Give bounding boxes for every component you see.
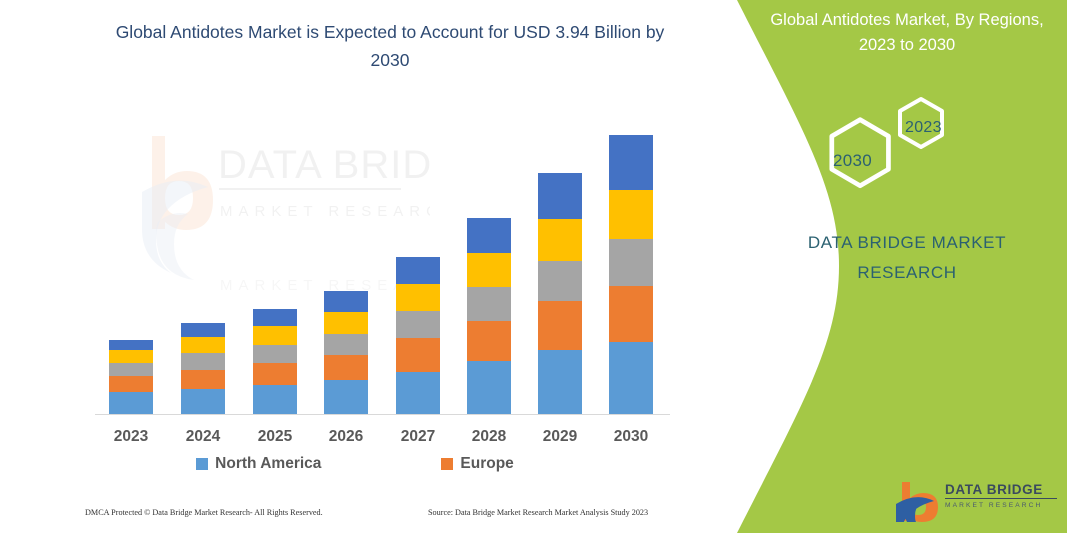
plot-area: 20232024202520262027202820292030 — [0, 0, 710, 533]
bar-segment-south-america — [253, 326, 297, 345]
bar-segment-north-america — [181, 389, 225, 414]
bar-segment-middle-east-and-africa — [253, 309, 297, 326]
legend-swatch-icon — [441, 458, 453, 470]
x-axis-label-2024: 2024 — [163, 428, 243, 446]
bar-2025 — [253, 309, 297, 414]
bar-2030 — [609, 135, 653, 414]
logo-sub-text: MARKET RESEARCH — [945, 501, 1057, 510]
bar-segment-north-america — [253, 385, 297, 414]
bar-segment-middle-east-and-africa — [467, 218, 511, 253]
x-axis-label-2023: 2023 — [91, 428, 171, 446]
bar-2024 — [181, 323, 225, 414]
x-axis-label-2026: 2026 — [306, 428, 386, 446]
bar-segment-asia-pacific — [467, 287, 511, 321]
infographic-root: Global Antidotes Market is Expected to A… — [0, 0, 1067, 533]
chart-panel: Global Antidotes Market is Expected to A… — [0, 0, 710, 533]
bar-segment-north-america — [109, 392, 153, 414]
chart-legend: North AmericaEurope — [0, 455, 710, 473]
x-axis-label-2027: 2027 — [378, 428, 458, 446]
bar-2023 — [109, 340, 153, 414]
bar-segment-south-america — [181, 337, 225, 354]
bar-segment-north-america — [396, 372, 440, 414]
hexagon-2023-label: 2023 — [905, 119, 942, 137]
footer-source: Source: Data Bridge Market Research Mark… — [428, 508, 648, 517]
bar-2026 — [324, 291, 368, 414]
bar-segment-asia-pacific — [181, 353, 225, 369]
panel-brand-line1: DATA BRIDGE MARKET — [747, 228, 1067, 258]
bar-segment-europe — [253, 363, 297, 384]
x-axis-label-2025: 2025 — [235, 428, 315, 446]
bar-segment-middle-east-and-africa — [609, 135, 653, 190]
panel-brand-line2: RESEARCH — [747, 258, 1067, 288]
bar-segment-north-america — [467, 361, 511, 414]
x-axis-label-2029: 2029 — [520, 428, 600, 446]
logo-main-text: DATA BRIDGE — [945, 482, 1057, 499]
bar-segment-south-america — [538, 219, 582, 260]
bar-segment-south-america — [396, 284, 440, 312]
bar-segment-asia-pacific — [396, 311, 440, 338]
bar-segment-south-america — [324, 312, 368, 333]
bar-segment-middle-east-and-africa — [396, 257, 440, 284]
bar-segment-south-america — [609, 190, 653, 238]
bar-segment-europe — [538, 301, 582, 350]
legend-label: Europe — [460, 455, 513, 473]
bar-segment-europe — [467, 321, 511, 362]
x-axis-label-2030: 2030 — [591, 428, 671, 446]
bar-segment-asia-pacific — [253, 345, 297, 363]
bar-segment-north-america — [609, 342, 653, 414]
hexagon-badges: 2030 2023 — [767, 95, 1047, 215]
bar-segment-europe — [181, 370, 225, 389]
bar-segment-asia-pacific — [609, 239, 653, 286]
footer-copyright: DMCA Protected © Data Bridge Market Rese… — [85, 508, 323, 517]
bar-2027 — [396, 257, 440, 414]
data-bridge-mark-icon — [895, 480, 939, 522]
bar-segment-europe — [609, 286, 653, 342]
panel-title: Global Antidotes Market, By Regions, 202… — [767, 8, 1047, 58]
bar-segment-north-america — [538, 350, 582, 414]
brand-panel: Global Antidotes Market, By Regions, 202… — [707, 0, 1067, 533]
bar-segment-europe — [109, 376, 153, 392]
x-axis-line — [95, 414, 670, 415]
bar-segment-europe — [324, 355, 368, 380]
bar-segment-asia-pacific — [109, 363, 153, 375]
legend-item-north-america: North America — [196, 455, 321, 473]
bar-segment-middle-east-and-africa — [538, 173, 582, 219]
legend-item-europe: Europe — [441, 455, 513, 473]
bar-segment-middle-east-and-africa — [109, 340, 153, 350]
bar-2028 — [467, 218, 511, 414]
data-bridge-logo: DATA BRIDGE MARKET RESEARCH — [895, 478, 1055, 524]
legend-swatch-icon — [196, 458, 208, 470]
bar-segment-north-america — [324, 380, 368, 414]
x-axis-label-2028: 2028 — [449, 428, 529, 446]
bar-2029 — [538, 173, 582, 414]
bar-segment-asia-pacific — [538, 261, 582, 302]
bar-segment-europe — [396, 338, 440, 372]
legend-label: North America — [215, 455, 321, 473]
bar-segment-south-america — [467, 253, 511, 287]
bar-segment-asia-pacific — [324, 334, 368, 355]
panel-brand: DATA BRIDGE MARKET RESEARCH — [747, 228, 1067, 288]
bar-segment-south-america — [109, 350, 153, 363]
hexagon-2030-label: 2030 — [833, 151, 872, 171]
bar-segment-middle-east-and-africa — [324, 291, 368, 312]
bar-segment-middle-east-and-africa — [181, 323, 225, 337]
